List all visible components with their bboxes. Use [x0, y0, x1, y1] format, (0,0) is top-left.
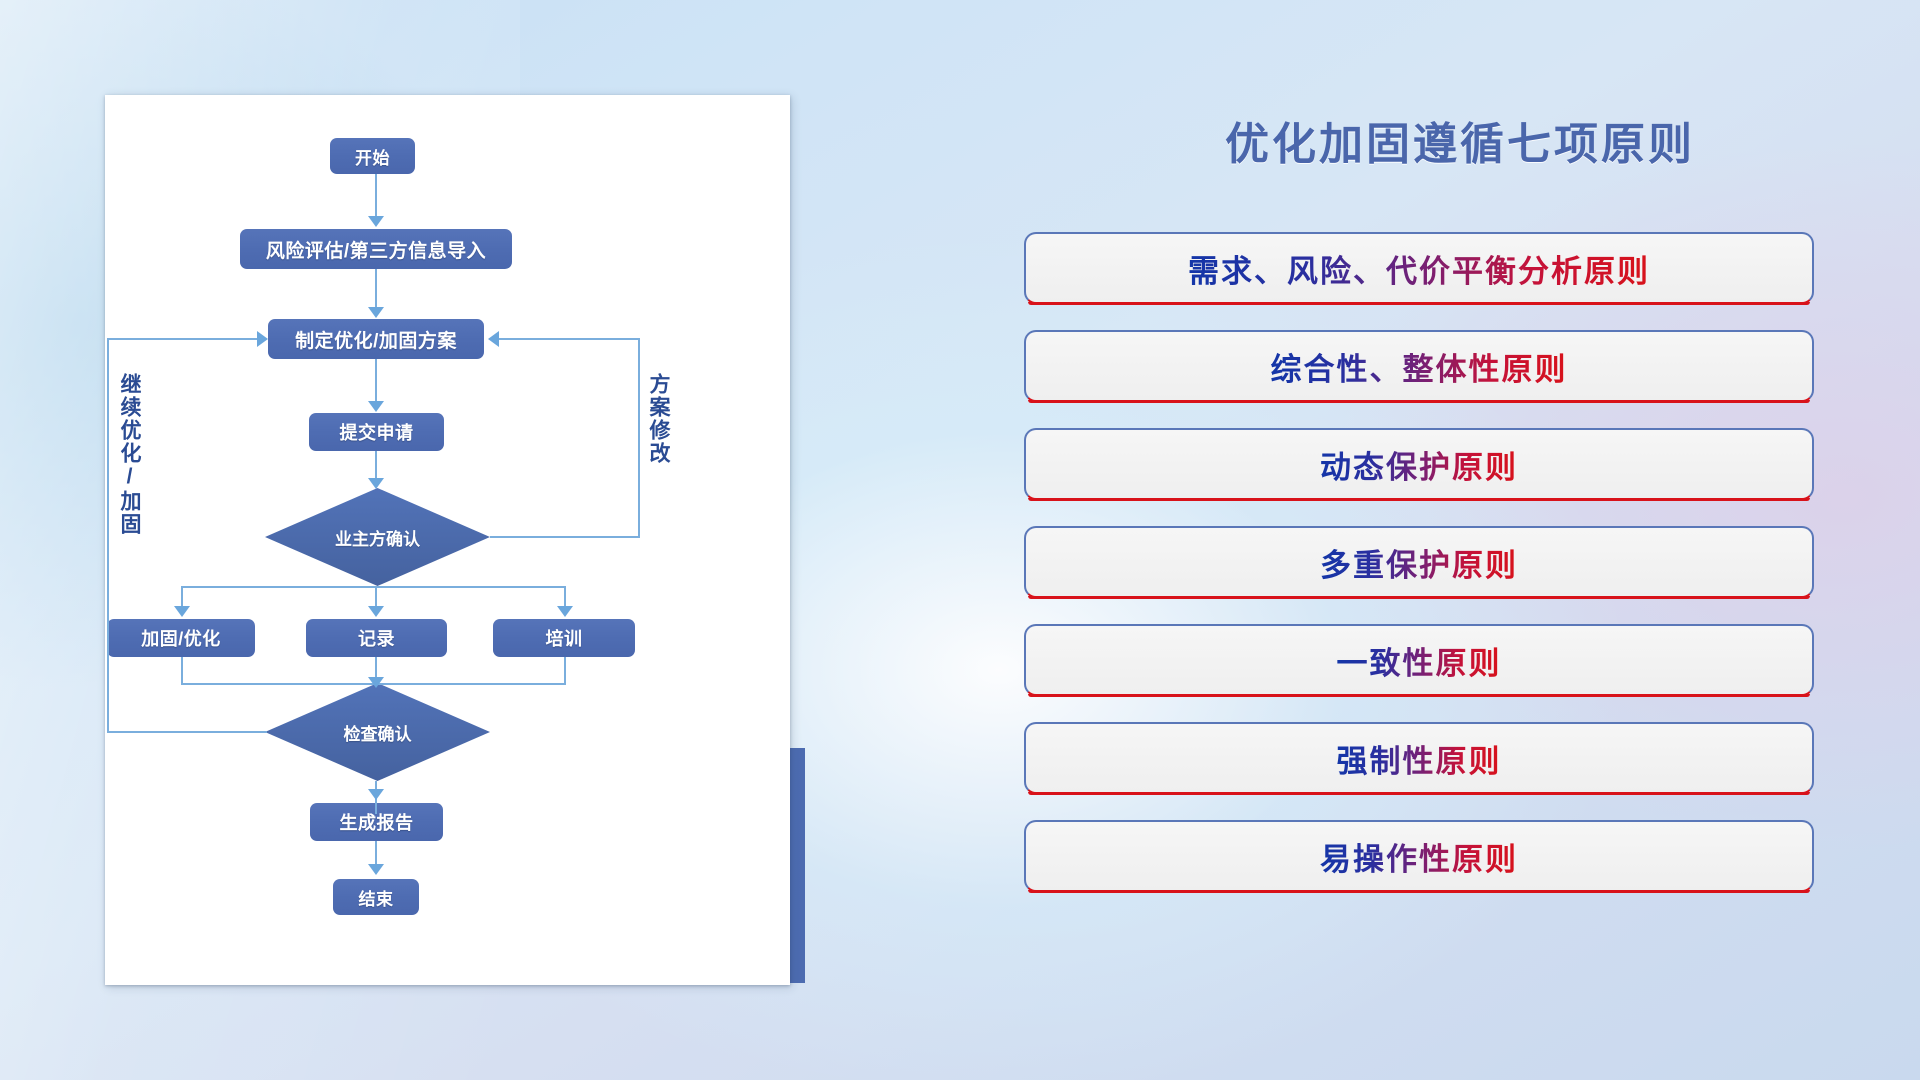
flow-node-label: 检查确认 — [344, 720, 412, 745]
arrowhead-down-icon — [557, 606, 573, 617]
flow-node-reinforce-optimize[interactable]: 加固/优化 — [107, 619, 255, 657]
connector-left-loop-top — [107, 338, 259, 340]
flow-node-label: 结束 — [359, 885, 394, 910]
flow-node-training[interactable]: 培训 — [493, 619, 635, 657]
flow-node-submit-application[interactable]: 提交申请 — [309, 413, 444, 451]
flow-node-label: 培训 — [546, 625, 583, 651]
connector-merge-right — [564, 657, 566, 685]
connector-risk-to-plan — [375, 269, 377, 309]
arrowhead-down-icon — [368, 307, 384, 318]
arrowhead-down-icon — [368, 789, 384, 800]
flow-node-check-confirm[interactable]: 检查确认 — [265, 683, 490, 781]
principle-item[interactable]: 多重保护原则 — [1024, 526, 1814, 598]
flow-node-owner-confirm[interactable]: 业主方确认 — [265, 488, 490, 586]
principle-label: 易操作性原则 — [1320, 834, 1518, 879]
connector-start-to-risk — [375, 174, 377, 218]
flow-node-label: 加固/优化 — [141, 625, 221, 651]
connector-right-loop-top — [499, 338, 640, 340]
principle-item[interactable]: 需求、风险、代价平衡分析原则 — [1024, 232, 1814, 304]
principle-label: 综合性、整体性原则 — [1271, 344, 1568, 389]
connector-plan-to-submit — [375, 359, 377, 405]
flow-node-label: 记录 — [358, 625, 395, 651]
edge-label-continue-optimize: 继续优化/加固 — [118, 373, 140, 536]
flow-node-make-plan[interactable]: 制定优化/加固方案 — [268, 319, 484, 359]
flowchart-card: 开始 风险评估/第三方信息导入 制定优化/加固方案 提交申请 业主方确认 加固/… — [105, 95, 790, 985]
arrowhead-down-icon — [368, 216, 384, 227]
principle-item[interactable]: 强制性原则 — [1024, 722, 1814, 794]
principle-item[interactable]: 一致性原则 — [1024, 624, 1814, 696]
principle-item[interactable]: 综合性、整体性原则 — [1024, 330, 1814, 402]
arrowhead-down-icon — [368, 864, 384, 875]
arrowhead-right-icon — [257, 331, 268, 347]
flow-node-label: 风险评估/第三方信息导入 — [266, 236, 486, 263]
connector-right-loop-bottom — [490, 536, 640, 538]
connector-left-loop-bottom — [107, 731, 267, 733]
flow-node-start[interactable]: 开始 — [330, 138, 415, 174]
connector-merge-left — [181, 657, 183, 685]
principles-list: 需求、风险、代价平衡分析原则 综合性、整体性原则 动态保护原则 多重保护原则 一… — [1024, 232, 1814, 918]
arrowhead-down-icon — [368, 677, 384, 688]
flow-node-record[interactable]: 记录 — [306, 619, 447, 657]
flow-node-risk-assessment[interactable]: 风险评估/第三方信息导入 — [240, 229, 512, 269]
edge-label-plan-revision: 方案修改 — [647, 373, 669, 465]
principle-label: 强制性原则 — [1337, 736, 1502, 781]
arrowhead-down-icon — [174, 606, 190, 617]
arrowhead-down-icon — [368, 606, 384, 617]
principle-label: 一致性原则 — [1337, 638, 1502, 683]
arrowhead-down-icon — [368, 401, 384, 412]
flow-node-label: 开始 — [355, 144, 390, 169]
principle-item[interactable]: 动态保护原则 — [1024, 428, 1814, 500]
principle-item[interactable]: 易操作性原则 — [1024, 820, 1814, 892]
principle-label: 多重保护原则 — [1320, 540, 1518, 585]
principle-label: 需求、风险、代价平衡分析原则 — [1188, 246, 1650, 291]
principle-label: 动态保护原则 — [1320, 442, 1518, 487]
principles-title: 优化加固遵循七项原则 — [1150, 108, 1770, 172]
flow-node-label: 提交申请 — [340, 419, 414, 445]
arrowhead-left-icon — [488, 331, 499, 347]
flow-node-label: 制定优化/加固方案 — [295, 326, 457, 353]
connector-left-loop-vertical — [107, 338, 109, 733]
flow-node-label: 业主方确认 — [335, 525, 420, 550]
arrowhead-down-icon — [368, 478, 384, 489]
connector-branch-bus — [181, 586, 565, 588]
flow-node-end[interactable]: 结束 — [333, 879, 419, 915]
connector-right-loop-vertical — [638, 338, 640, 537]
